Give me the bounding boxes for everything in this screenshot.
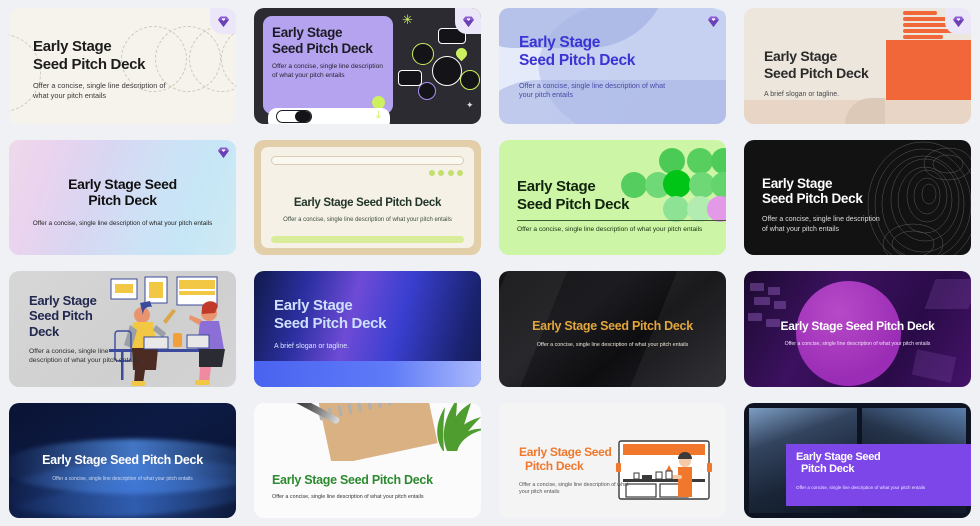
card-title-line2: Pitch Deck xyxy=(519,459,629,473)
card-title-line1: Early Stage xyxy=(762,176,887,192)
template-cell-7[interactable]: Early Stage Seed Pitch Deck Offer a conc… xyxy=(490,132,735,264)
download-arrow-icon: ⤓ xyxy=(376,109,381,122)
premium-badge[interactable] xyxy=(700,8,726,34)
card-subtitle: Offer a concise, single line description… xyxy=(519,482,629,496)
card-title-line1: Early Stage xyxy=(33,38,183,56)
card-text-13: Early Stage Seed Pitch Deck Offer a conc… xyxy=(9,453,236,483)
card-title-line1: Early Stage xyxy=(764,48,914,65)
card-subtitle: Offer a concise, single line description… xyxy=(517,226,726,235)
desk-photo xyxy=(254,403,481,461)
template-cell-14[interactable]: Early Stage Seed Pitch Deck Offer a conc… xyxy=(245,395,490,526)
sparkle-icon: ✦ xyxy=(466,100,474,111)
emoji-face-icon xyxy=(412,43,434,65)
card-title-line2: Seed Pitch Deck xyxy=(519,52,709,70)
card-title-line2: Seed Pitch xyxy=(29,308,139,323)
card-subtitle: Offer a concise, single line description… xyxy=(796,485,956,491)
card-subtitle: Offer a concise, single line description… xyxy=(33,81,183,101)
card-title-line1: Early Stage Seed xyxy=(9,176,236,193)
card-text-5: Early Stage Seed Pitch Deck Offer a conc… xyxy=(9,176,236,228)
template-card-blue-violet-gradient[interactable]: Early Stage Seed Pitch Deck A brief slog… xyxy=(254,271,481,387)
premium-gem-icon xyxy=(461,14,476,29)
card-title-line2: Pitch Deck xyxy=(796,463,956,476)
card-title-line2: Seed Pitch Deck xyxy=(272,41,390,57)
card-text-1: Early Stage Seed Pitch Deck Offer a conc… xyxy=(33,38,183,101)
premium-gem-icon xyxy=(706,14,721,29)
card-text-12: Early Stage Seed Pitch Deck Offer a conc… xyxy=(744,319,971,348)
card-subtitle: Offer a concise, single line description… xyxy=(762,215,887,233)
card-subtitle: A brief slogan or tagline. xyxy=(274,342,454,351)
bottom-gradient-band xyxy=(254,361,481,387)
template-cell-1[interactable]: Early Stage Seed Pitch Deck Offer a conc… xyxy=(0,0,245,132)
card-text-2: Early Stage Seed Pitch Deck Offer a conc… xyxy=(272,25,390,80)
bottom-bar-decoration xyxy=(271,236,464,243)
template-card-notebook-photo[interactable]: Early Stage Seed Pitch Deck Offer a conc… xyxy=(254,403,481,519)
template-cell-11[interactable]: Early Stage Seed Pitch Deck Offer a conc… xyxy=(490,263,735,395)
template-card-light-green-circles[interactable]: Early Stage Seed Pitch Deck Offer a conc… xyxy=(499,140,726,256)
circle-decoration xyxy=(687,148,713,174)
food-kiosk-illustration-icon xyxy=(616,439,712,501)
keyboard-key-decoration xyxy=(774,301,786,309)
card-title-line3: Deck xyxy=(29,324,139,339)
template-card-black-topographic[interactable]: Early Stage Seed Pitch Deck Offer a conc… xyxy=(744,140,971,256)
template-cell-9[interactable]: Early Stage Seed Pitch Deck Offer a conc… xyxy=(0,263,245,395)
card-subtitle: Offer a concise, single line description… xyxy=(744,341,971,348)
card-title-line2: Seed Pitch Deck xyxy=(274,315,454,333)
card-title-line1: Early Stage xyxy=(29,293,139,308)
template-card-skyscraper-purple[interactable]: Early Stage Seed Pitch Deck Offer a conc… xyxy=(744,403,971,519)
template-card-purple-circle-tech[interactable]: Early Stage Seed Pitch Deck Offer a conc… xyxy=(744,271,971,387)
template-card-gray-office-illustration[interactable]: Early Stage Seed Pitch Deck Offer a conc… xyxy=(9,271,236,387)
card-title-line1: Early Stage Seed Pitch Deck xyxy=(272,473,481,488)
card-title-line1: Early Stage xyxy=(519,34,709,52)
premium-badge[interactable] xyxy=(210,140,236,166)
premium-badge[interactable] xyxy=(455,8,481,34)
card-title-line2: Pitch Deck xyxy=(9,192,236,209)
card-text-15: Early Stage Seed Pitch Deck Offer a conc… xyxy=(519,445,629,497)
divider xyxy=(517,220,726,221)
template-card-black-gold[interactable]: Early Stage Seed Pitch Deck Offer a conc… xyxy=(499,271,726,387)
card-title-line1: Early Stage Seed Pitch Deck xyxy=(499,319,726,334)
template-card-navy-wave[interactable]: Early Stage Seed Pitch Deck Offer a conc… xyxy=(9,403,236,519)
premium-gem-icon xyxy=(216,145,231,160)
card-subtitle: Offer a concise, single line description… xyxy=(9,220,236,228)
template-cell-5[interactable]: Early Stage Seed Pitch Deck Offer a conc… xyxy=(0,132,245,264)
card-text-10: Early Stage Seed Pitch Deck A brief slog… xyxy=(274,297,454,352)
template-cell-16[interactable]: Early Stage Seed Pitch Deck Offer a conc… xyxy=(735,395,980,526)
premium-badge[interactable] xyxy=(945,8,971,34)
card-subtitle: Offer a concise, single line description… xyxy=(499,342,726,349)
plant-icon xyxy=(419,403,481,455)
mouse-decoration xyxy=(912,349,957,383)
template-card-beige-frame[interactable]: Early Stage Seed Pitch Deck Offer a conc… xyxy=(254,140,481,256)
premium-gem-icon xyxy=(216,14,231,29)
card-subtitle: Offer a concise, single line description… xyxy=(272,494,481,501)
template-card-blue-wave-gradient[interactable]: Early Stage Seed Pitch Deck Offer a conc… xyxy=(499,8,726,124)
keyboard-key-decoration xyxy=(768,287,780,295)
green-dots-decoration xyxy=(429,170,464,176)
template-cell-3[interactable]: Early Stage Seed Pitch Deck Offer a conc… xyxy=(490,0,735,132)
top-bar-decoration xyxy=(271,156,464,165)
template-cell-2[interactable]: ✳ ✦ ⤓ Early Stage Seed Pitch Deck Offer … xyxy=(245,0,490,132)
card-title-line1: Early Stage xyxy=(517,178,726,196)
template-cell-15[interactable]: Early Stage Seed Pitch Deck Offer a conc… xyxy=(490,395,735,526)
card-title-line1: Early Stage Seed xyxy=(796,451,956,464)
template-card-pastel-gradient[interactable]: Early Stage Seed Pitch Deck Offer a conc… xyxy=(9,140,236,256)
card-title-line1: Early Stage xyxy=(272,25,390,41)
card-title-line2: Seed Pitch Deck xyxy=(517,196,726,214)
card-text-16: Early Stage Seed Pitch Deck Offer a conc… xyxy=(796,451,956,492)
device-decoration xyxy=(925,279,971,309)
keyboard-key-decoration xyxy=(750,283,764,291)
card-text-8: Early Stage Seed Pitch Deck Offer a conc… xyxy=(762,176,887,234)
premium-gem-icon xyxy=(951,14,966,29)
card-subtitle: Offer a concise, single line description… xyxy=(9,476,236,483)
asterisk-icon: ✳ xyxy=(402,12,413,28)
card-subtitle: Offer a concise, single line description… xyxy=(272,63,390,80)
card-title-line1: Early Stage Seed Pitch Deck xyxy=(9,453,236,468)
template-card-orange-kiosk[interactable]: Early Stage Seed Pitch Deck Offer a conc… xyxy=(499,403,726,519)
emoji-face-icon xyxy=(432,56,462,86)
inner-frame: Early Stage Seed Pitch Deck Offer a conc… xyxy=(261,147,474,249)
card-title-line1: Early Stage xyxy=(274,297,454,315)
card-text-9: Early Stage Seed Pitch Deck Offer a conc… xyxy=(29,293,139,366)
template-cell-12[interactable]: Early Stage Seed Pitch Deck Offer a conc… xyxy=(735,263,980,395)
card-title-line1: Early Stage Seed xyxy=(519,445,629,459)
card-text-3: Early Stage Seed Pitch Deck Offer a conc… xyxy=(519,34,709,100)
template-cell-6[interactable]: Early Stage Seed Pitch Deck Offer a conc… xyxy=(245,132,490,264)
speech-bubble-icon xyxy=(398,70,422,86)
card-text-7: Early Stage Seed Pitch Deck Offer a conc… xyxy=(517,178,726,235)
card-subtitle: Offer a concise, single line description… xyxy=(261,217,474,225)
card-title-line2: Seed Pitch Deck xyxy=(33,56,183,74)
card-title-line2: Seed Pitch Deck xyxy=(762,191,887,207)
card-subtitle: Offer a concise, single line description… xyxy=(519,81,679,100)
template-cell-13[interactable]: Early Stage Seed Pitch Deck Offer a conc… xyxy=(0,395,245,526)
template-card-cream-orange-block[interactable]: Early Stage Seed Pitch Deck A brief slog… xyxy=(744,8,971,124)
template-gallery-grid: Early Stage Seed Pitch Deck Offer a conc… xyxy=(0,0,980,526)
emoji-face-icon xyxy=(460,70,480,90)
toggle-pill-decoration xyxy=(276,110,312,123)
keyboard-key-decoration xyxy=(754,297,770,305)
card-title-line1: Early Stage Seed Pitch Deck xyxy=(744,319,971,333)
circle-decoration xyxy=(711,148,726,174)
template-cell-4[interactable]: Early Stage Seed Pitch Deck A brief slog… xyxy=(735,0,980,132)
card-subtitle: A brief slogan or tagline. xyxy=(764,90,914,99)
card-title-line2: Seed Pitch Deck xyxy=(764,65,914,82)
card-text-6: Early Stage Seed Pitch Deck Offer a conc… xyxy=(261,197,474,225)
template-card-dark-lavender-emoji[interactable]: ✳ ✦ ⤓ Early Stage Seed Pitch Deck Offer … xyxy=(254,8,481,124)
card-title-line1: Early Stage Seed Pitch Deck xyxy=(261,197,474,211)
card-text-11: Early Stage Seed Pitch Deck Offer a conc… xyxy=(499,319,726,349)
template-cell-8[interactable]: Early Stage Seed Pitch Deck Offer a conc… xyxy=(735,132,980,264)
template-card-cream-dashed-circles[interactable]: Early Stage Seed Pitch Deck Offer a conc… xyxy=(9,8,236,124)
card-subtitle: Offer a concise, single line description… xyxy=(29,348,139,366)
card-text-4: Early Stage Seed Pitch Deck A brief slog… xyxy=(764,48,914,99)
premium-badge[interactable] xyxy=(210,8,236,34)
template-cell-10[interactable]: Early Stage Seed Pitch Deck A brief slog… xyxy=(245,263,490,395)
card-text-14: Early Stage Seed Pitch Deck Offer a conc… xyxy=(272,473,481,502)
